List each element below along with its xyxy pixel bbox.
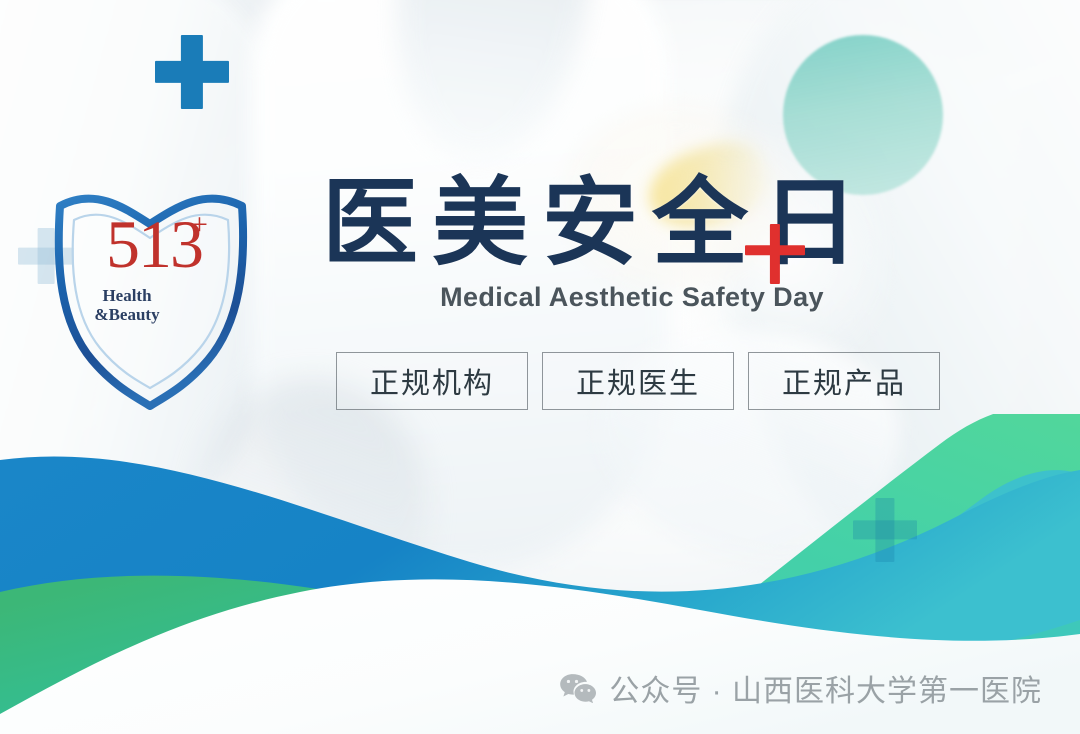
title-english: Medical Aesthetic Safety Day <box>322 282 942 313</box>
red-cross-accent-icon <box>745 224 805 284</box>
tag-legit-institution[interactable]: 正规机构 <box>336 352 528 410</box>
footer-text: 公众号 · 山西医科大学第一医院 <box>609 666 1042 710</box>
tag-legit-doctor[interactable]: 正规医生 <box>542 352 734 410</box>
tag-row: 正规机构 正规医生 正规产品 <box>336 352 940 410</box>
footer-credit[interactable]: 公众号 · 山西医科大学第一医院 <box>559 666 1042 710</box>
logo-tagline-line1: Health <box>102 286 151 305</box>
tag-legit-product[interactable]: 正规产品 <box>748 352 940 410</box>
medical-cross-icon <box>155 35 229 109</box>
wechat-icon <box>559 673 597 703</box>
logo-513-shield: 513 + Health&Beauty <box>46 182 262 410</box>
medical-cross-teal-icon <box>853 498 917 562</box>
headline-block: 医美安全日 Medical Aesthetic Safety Day <box>322 176 962 313</box>
logo-tagline-line2: &Beauty <box>94 305 159 324</box>
logo-tagline: Health&Beauty <box>64 286 190 324</box>
footer-bar: 公众号 · 山西医科大学第一医院 <box>0 642 1080 734</box>
poster-canvas: 513 + Health&Beauty 医美安全日 Medical Aesthe… <box>0 0 1080 734</box>
title-chinese: 医美安全日 <box>322 176 962 272</box>
logo-plus-superscript: + <box>191 210 208 240</box>
logo-number: 513 <box>46 210 262 278</box>
